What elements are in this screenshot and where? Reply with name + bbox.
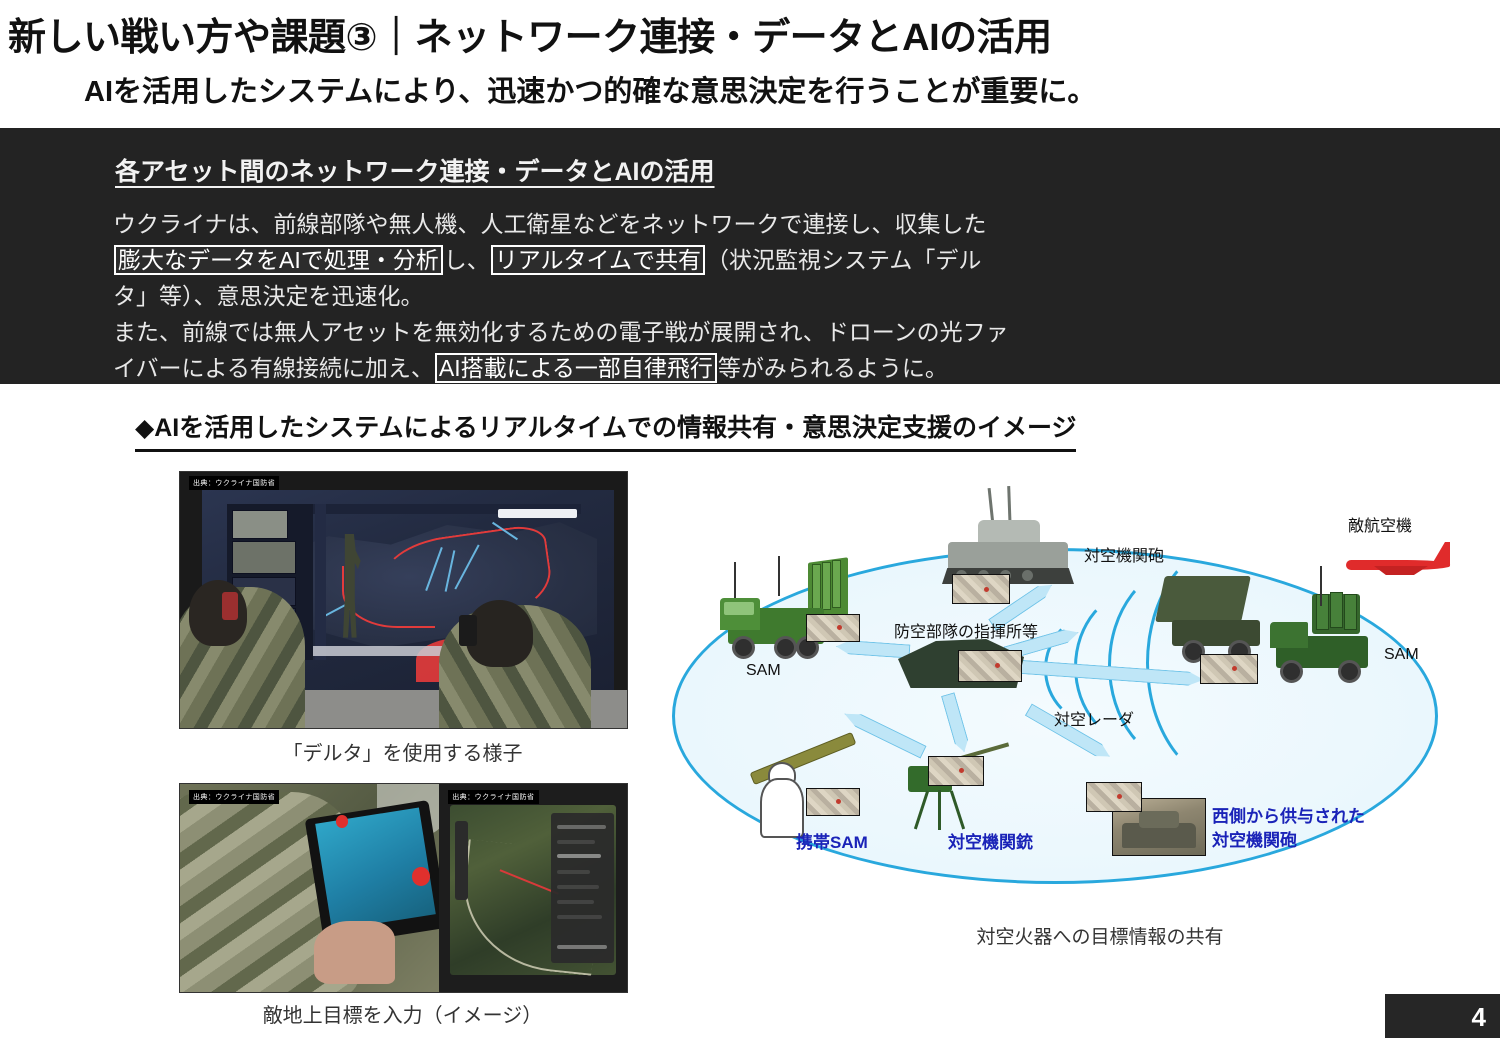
label-manpads: 携帯SAM <box>796 828 868 853</box>
summary-band: 各アセット間のネットワーク連接・データとAIの活用 ウクライナは、前線部隊や無人… <box>0 128 1500 384</box>
chip-marker-icon <box>836 799 841 804</box>
soldier-right-headset-icon <box>459 615 477 646</box>
panel-row-5 <box>557 885 598 889</box>
paragraph1-segment-2: し、 <box>444 247 490 273</box>
map-search-field[interactable] <box>498 509 576 518</box>
command-map-chip <box>958 650 1022 682</box>
sidebar-thumbnail-1 <box>232 510 288 538</box>
sam-wheel-2 <box>774 636 797 659</box>
sam-right-wheel-2 <box>1338 660 1361 683</box>
paragraph2-highlight-1: AI搭載による一部自律飛行 <box>435 353 717 383</box>
sam-right-tube-3 <box>1344 594 1357 630</box>
chip-marker-icon <box>1117 794 1122 799</box>
page-subtitle: AIを活用したシステムにより、迅速かつ的確な意思決定を行うことが重要に。 <box>84 68 1096 110</box>
label-command-post: 防空部隊の指揮所等 <box>894 618 1038 642</box>
label-air-defense-radar: 対空レーダ <box>1054 706 1134 730</box>
panel-row-2 <box>557 840 595 844</box>
page-number-badge: 4 <box>1385 994 1500 1038</box>
soldier-left-headset-icon <box>222 592 238 620</box>
map-tool-rail-2[interactable] <box>455 821 468 900</box>
manpads-map-chip <box>806 788 860 816</box>
photo1-source-tag: 出典：ウクライナ国防省 <box>189 476 279 490</box>
chip-marker-icon <box>1232 666 1237 671</box>
sam-antenna-1 <box>734 562 736 602</box>
map-side-panel[interactable] <box>551 813 614 963</box>
label-sam-right: SAM <box>1384 646 1419 664</box>
label-enemy-aircraft: 敵航空機 <box>1348 512 1412 536</box>
page-number: 4 <box>1472 1002 1486 1033</box>
label-aa-gun-top: 対空機関砲 <box>1084 542 1164 566</box>
hand <box>314 921 394 983</box>
photo1-caption: 「デルタ」を使用する様子 <box>179 737 626 766</box>
panel-row-6 <box>557 900 593 904</box>
sam-truck-window <box>724 602 754 615</box>
sam-antenna-2 <box>778 556 780 596</box>
tank-wheel-4 <box>1022 570 1033 581</box>
aa-gun-map-chip <box>928 756 984 786</box>
jet-wing <box>1374 566 1428 575</box>
paragraph2-segment-2: 等がみられるように。 <box>718 355 948 381</box>
paragraph1-segment-1: ウクライナは、前線部隊や無人機、人工衛星などをネットワークで連接し、収集した <box>113 211 987 237</box>
sam-right-wheel-1 <box>1280 660 1303 683</box>
photo2-source-tag-left: 出典：ウクライナ国防省 <box>189 790 279 804</box>
slide-root: 新しい戦い方や課題③｜ネットワーク連接・データとAIの活用 AIを活用したシステ… <box>0 0 1500 1038</box>
soldier-left-head <box>189 580 247 647</box>
sam-missile-tube-2 <box>822 562 831 610</box>
sam-missile-tube-3 <box>832 560 841 608</box>
sidebar-thumbnail-2 <box>232 541 296 574</box>
western-aa-turret <box>1139 811 1179 828</box>
sam-missile-tube-1 <box>812 564 821 612</box>
jet-tail <box>1432 542 1450 564</box>
chip-marker-icon <box>837 625 842 630</box>
panel-row-4 <box>557 870 590 874</box>
chip-marker-icon <box>959 768 964 773</box>
sam-right-cab <box>1270 622 1308 648</box>
paragraph1-highlight-2: リアルタイムで共有 <box>491 245 705 275</box>
sam-wheel-1 <box>732 636 755 659</box>
panel-row-7 <box>557 915 602 919</box>
western-aa-map-chip <box>1086 782 1142 812</box>
band-heading: 各アセット間のネットワーク連接・データとAIの活用 <box>115 152 715 188</box>
asset-enemy-aircraft <box>1340 542 1452 584</box>
label-western-supplied-line2: 対空機関砲 <box>1212 826 1297 851</box>
chip-marker-icon <box>984 587 989 592</box>
content-panel: ◆AIを活用したシステムによるリアルタイムでの情報共有・意思決定支援のイメージ <box>105 385 1500 1038</box>
band-paragraph-2: また、前線では無人アセットを無効化するための電子戦が展開され、ドローンの光ファイ… <box>113 314 1013 386</box>
tripod-leg-2 <box>938 790 941 830</box>
sam-right-tube-2 <box>1330 592 1343 628</box>
map-tool-rail[interactable] <box>315 504 326 660</box>
sam-right-map-chip <box>1200 654 1258 684</box>
photo-tablet-target-input: 出典：ウクライナ国防省 出典：ウクライナ国防省 <box>179 783 628 993</box>
diagram-caption: 対空火器への目標情報の共有 <box>940 922 1260 949</box>
tripod-leg-1 <box>914 791 929 830</box>
page-title: 新しい戦い方や課題③｜ネットワーク連接・データとAIの活用 <box>8 6 1052 61</box>
label-western-supplied-line1: 西側から供与された <box>1212 802 1365 827</box>
air-defense-diagram: SAM 対空機関砲 <box>660 490 1480 960</box>
paragraph1-highlight-1: 膨大なデータをAIで処理・分析 <box>114 245 443 275</box>
panel-heading: ◆AIを活用したシステムによるリアルタイムでの情報共有・意思決定支援のイメージ <box>135 408 1076 452</box>
label-sam-left: SAM <box>746 662 781 680</box>
tank-map-chip <box>952 574 1010 604</box>
radar-antenna-panel <box>1155 576 1251 622</box>
target-marker-icon-2 <box>336 815 348 827</box>
photo-delta-command-center: 出典：ウクライナ国防省 <box>179 471 628 729</box>
panel-row-8 <box>557 945 607 949</box>
aa-gun-tripod <box>914 790 966 832</box>
label-aa-machine-gun: 対空機関銃 <box>948 828 1033 853</box>
panel-row-3 <box>557 854 601 858</box>
photo2-source-tag-right: 出典：ウクライナ国防省 <box>448 790 538 804</box>
sam-right-antenna <box>1320 566 1322 606</box>
sam-map-chip <box>806 614 860 642</box>
photo2-caption: 敵地上目標を入力（イメージ） <box>179 999 626 1028</box>
band-paragraph-1: ウクライナは、前線部隊や無人機、人工衛星などをネットワークで連接し、収集した膨大… <box>113 206 1013 314</box>
slide-header: 新しい戦い方や課題③｜ネットワーク連接・データとAIの活用 AIを活用したシステ… <box>0 0 1500 128</box>
chip-marker-icon <box>995 663 1000 668</box>
sam-right-tube-1 <box>1316 594 1329 630</box>
tripod-leg-3 <box>950 791 965 830</box>
panel-row-1 <box>557 825 606 829</box>
